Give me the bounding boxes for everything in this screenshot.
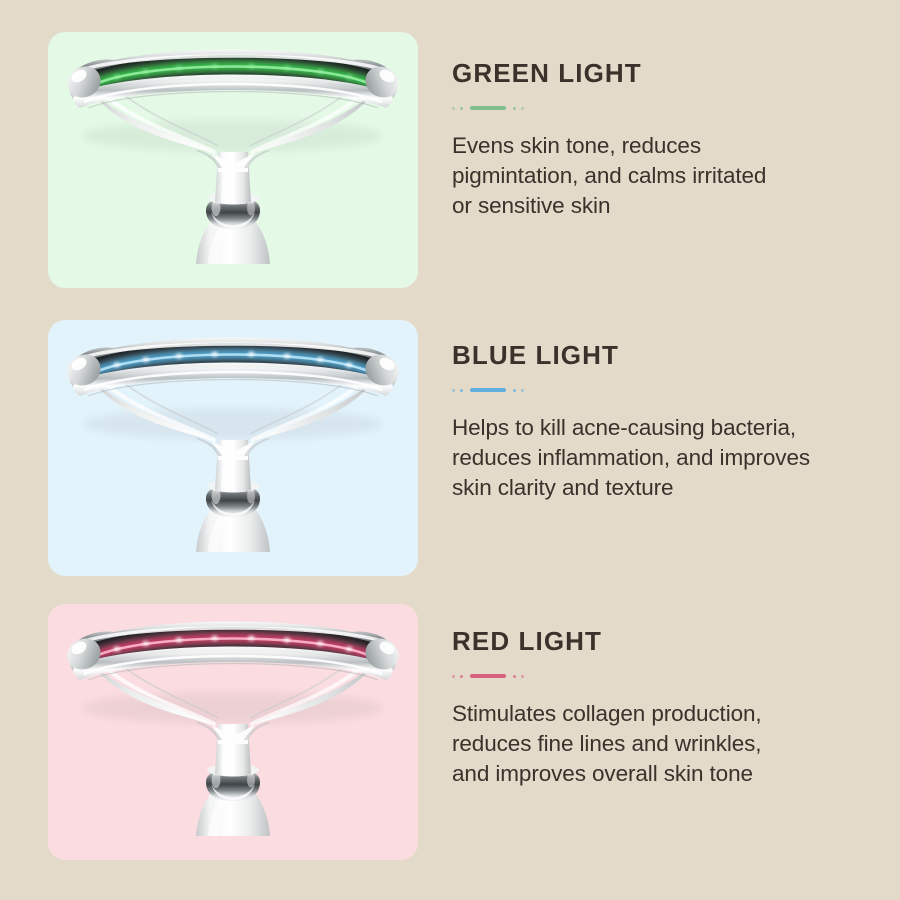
section-description-green: Evens skin tone, reducespigmintation, an… bbox=[452, 131, 882, 221]
led-diode bbox=[284, 354, 291, 359]
description-line: and improves overall skin tone bbox=[452, 759, 882, 789]
neck-beauty-device-red bbox=[48, 604, 418, 860]
image-panel-green bbox=[48, 32, 418, 288]
section-heading-green: GREEN LIGHT bbox=[452, 60, 882, 86]
divider-dot bbox=[460, 389, 463, 392]
description-line: or sensitive skin bbox=[452, 191, 882, 221]
image-panel-red bbox=[48, 604, 418, 860]
divider-dot bbox=[460, 107, 463, 110]
neck-beauty-device-green bbox=[48, 32, 418, 288]
text-block-blue: BLUE LIGHTHelps to kill acne-causing bac… bbox=[452, 342, 882, 503]
description-line: pigmintation, and calms irritated bbox=[452, 161, 882, 191]
neck-beauty-device-blue bbox=[48, 320, 418, 576]
device-illustration bbox=[48, 320, 418, 576]
description-line: reduces fine lines and wrinkles, bbox=[452, 729, 882, 759]
divider-dot bbox=[452, 675, 455, 678]
led-diode bbox=[114, 75, 121, 80]
divider-dot bbox=[521, 107, 524, 110]
divider-dot bbox=[521, 389, 524, 392]
description-line: skin clarity and texture bbox=[452, 473, 882, 503]
section-description-red: Stimulates collagen production,reduces f… bbox=[452, 699, 882, 789]
led-diode bbox=[211, 64, 218, 69]
device-illustration bbox=[48, 604, 418, 860]
divider-dash bbox=[470, 674, 506, 678]
led-diode bbox=[176, 638, 183, 643]
image-panel-blue bbox=[48, 320, 418, 576]
accent-divider-red bbox=[452, 673, 882, 679]
led-diode bbox=[211, 352, 218, 357]
led-diode bbox=[176, 66, 183, 71]
description-line: Stimulates collagen production, bbox=[452, 699, 882, 729]
divider-dot bbox=[513, 107, 516, 110]
section-description-blue: Helps to kill acne-causing bacteria,redu… bbox=[452, 413, 882, 503]
divider-dot bbox=[513, 389, 516, 392]
led-diode bbox=[317, 357, 324, 362]
led-diode bbox=[317, 641, 324, 646]
divider-dot bbox=[513, 675, 516, 678]
led-diode bbox=[346, 647, 353, 652]
led-diode bbox=[114, 647, 121, 652]
divider-dot bbox=[460, 675, 463, 678]
led-diode bbox=[346, 363, 353, 368]
led-diode bbox=[142, 641, 149, 646]
led-diode bbox=[176, 354, 183, 359]
led-diode bbox=[284, 638, 291, 643]
text-block-red: RED LIGHTStimulates collagen production,… bbox=[452, 628, 882, 789]
led-diode bbox=[248, 64, 255, 69]
device-illustration bbox=[48, 32, 418, 288]
infographic-board: GREEN LIGHTEvens skin tone, reducespigmi… bbox=[0, 0, 900, 900]
led-diode bbox=[284, 66, 291, 71]
text-block-green: GREEN LIGHTEvens skin tone, reducespigmi… bbox=[452, 60, 882, 221]
led-diode bbox=[317, 69, 324, 74]
section-heading-blue: BLUE LIGHT bbox=[452, 342, 882, 368]
description-line: Evens skin tone, reduces bbox=[452, 131, 882, 161]
divider-dash bbox=[470, 106, 506, 110]
divider-dash bbox=[470, 388, 506, 392]
description-line: Helps to kill acne-causing bacteria, bbox=[452, 413, 882, 443]
led-diode bbox=[142, 357, 149, 362]
description-line: reduces inflammation, and improves bbox=[452, 443, 882, 473]
led-diode bbox=[346, 75, 353, 80]
led-diode bbox=[114, 363, 121, 368]
accent-divider-green bbox=[452, 105, 882, 111]
divider-dot bbox=[521, 675, 524, 678]
section-heading-red: RED LIGHT bbox=[452, 628, 882, 654]
divider-dot bbox=[452, 107, 455, 110]
led-diode bbox=[142, 69, 149, 74]
led-diode bbox=[211, 636, 218, 641]
accent-divider-blue bbox=[452, 387, 882, 393]
divider-dot bbox=[452, 389, 455, 392]
led-diode bbox=[248, 352, 255, 357]
led-diode bbox=[248, 636, 255, 641]
